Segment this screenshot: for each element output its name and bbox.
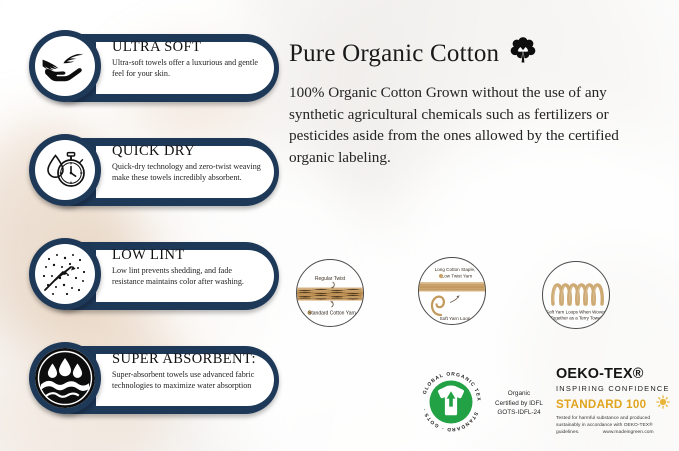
gots-caption-line-1: Organic — [490, 389, 548, 399]
yarn-diagram-group: Regular Twist Standard Cotton Yarn Long … — [289, 251, 667, 341]
badge-icon-ring — [29, 238, 101, 310]
feature-badge-ultra-soft[interactable]: ULTRA SOFT Ultra-soft towels offer a lux… — [29, 30, 281, 102]
hero-text-block: Pure Organic Cotton 100% Organic Cotton … — [289, 36, 661, 168]
cotton-boll-icon — [508, 36, 538, 71]
yarn-bottom-label-1: Soft Yarn Loops When Woven — [546, 310, 607, 315]
feature-badge-quick-dry[interactable]: QUICK DRY Quick-dry technology and zero-… — [29, 134, 281, 206]
hand-feather-icon — [35, 36, 95, 96]
badge-title: ULTRA SOFT — [112, 40, 264, 55]
gots-caption-line-3: GOTS-IDFL-24 — [490, 408, 548, 418]
badge-description: Super-absorbent towels use advanced fabr… — [112, 369, 264, 391]
standard-cotton-yarn-diagram: Regular Twist Standard Cotton Yarn — [296, 259, 364, 327]
feature-badge-list: ULTRA SOFT Ultra-soft towels offer a lux… — [29, 30, 281, 446]
page-title: Pure Organic Cotton — [289, 40, 499, 68]
badge-description: Low lint prevents shedding, and fade res… — [112, 265, 264, 287]
stopwatch-droplet-icon — [35, 140, 95, 200]
oeko-tex-url: www.madeingreen.com — [603, 430, 654, 437]
page-title-row: Pure Organic Cotton — [289, 36, 661, 71]
oeko-tex-title: OEKO-TEX® — [556, 367, 670, 381]
gots-logo: GLOBAL ORGANIC TEXTILE STANDARD · GOTS · — [418, 369, 484, 435]
low-twist-yarn-diagram: Long Cotton Staple, Low Twist Yarn Soft … — [418, 257, 486, 325]
lint-particles-icon — [35, 244, 95, 304]
oeko-tex-logo: OEKO-TEX® INSPIRING CONFIDENCE STANDARD … — [556, 367, 670, 437]
yarn-bottom-label-2: Together as a Terry Towel — [550, 316, 601, 321]
badge-text-block: ULTRA SOFT Ultra-soft towels offer a lux… — [112, 40, 264, 80]
sun-burst-icon — [656, 395, 670, 414]
badge-text-block: SUPER ABSORBENT: Super-absorbent towels … — [112, 352, 264, 392]
badge-icon-ring — [29, 342, 101, 414]
badge-title: LOW LINT — [112, 248, 264, 263]
yarn-top-label-2: Low Twist Yarn — [442, 274, 473, 279]
feature-badge-super-absorbent[interactable]: SUPER ABSORBENT: Super-absorbent towels … — [29, 342, 281, 414]
badge-icon-ring — [29, 134, 101, 206]
badge-description: Ultra-soft towels offer a luxurious and … — [112, 57, 264, 79]
oeko-tex-standard: STANDARD 100 — [556, 398, 646, 411]
yarn-top-label-1: Long Cotton Staple, — [435, 267, 476, 272]
badge-title: QUICK DRY — [112, 144, 264, 159]
gots-caption: Organic Certified by IDFL GOTS-IDFL-24 — [490, 389, 548, 418]
oeko-tex-subtitle: INSPIRING CONFIDENCE — [556, 384, 670, 393]
water-absorption-icon — [35, 348, 95, 408]
oeko-tex-fineprint: Tested for harmful substance and produce… — [556, 416, 670, 437]
hero-paragraph: 100% Organic Cotton Grown without the us… — [289, 82, 661, 168]
terry-towel-loops-diagram: Soft Yarn Loops When Woven Together as a… — [542, 261, 610, 329]
feature-badge-low-lint[interactable]: LOW LINT Low lint prevents shedding, and… — [29, 238, 281, 310]
badge-description: Quick-dry technology and zero-twist weav… — [112, 161, 264, 183]
yarn-bottom-label: Standard Cotton Yarn — [308, 311, 356, 317]
yarn-bottom-label: Soft Yarn Loop — [440, 316, 471, 321]
badge-icon-ring — [29, 30, 101, 102]
certification-group: GLOBAL ORGANIC TEXTILE STANDARD · GOTS ·… — [418, 367, 670, 445]
gots-caption-line-2: Certified by IDFL — [490, 399, 548, 409]
yarn-top-label: Regular Twist — [315, 276, 346, 282]
badge-text-block: LOW LINT Low lint prevents shedding, and… — [112, 248, 264, 288]
badge-title: SUPER ABSORBENT: — [112, 352, 264, 367]
badge-text-block: QUICK DRY Quick-dry technology and zero-… — [112, 144, 264, 184]
